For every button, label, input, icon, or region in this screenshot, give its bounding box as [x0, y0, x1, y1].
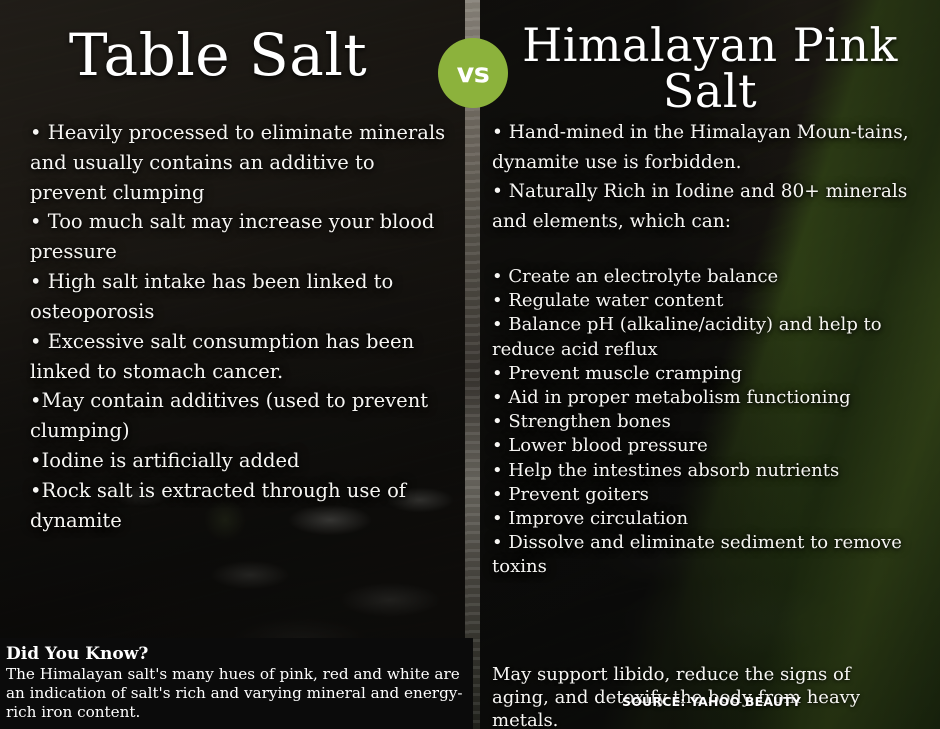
page-title-himalayan-pink-salt: Himalayan Pink Salt — [480, 22, 940, 114]
list-item: • Heavily processed to eliminate mineral… — [30, 118, 450, 207]
list-item: •May contain additives (used to prevent … — [30, 386, 450, 446]
list-item: • Improve circulation — [492, 507, 940, 531]
list-item: • Prevent muscle cramping — [492, 362, 940, 386]
source-attribution: SOURCE: YAHOO BEAUTY — [622, 694, 801, 709]
content-layer: Table Salt • Heavily processed to elimin… — [0, 0, 940, 729]
list-item: • High salt intake has been linked to os… — [30, 267, 450, 327]
column-table-salt: Table Salt • Heavily processed to elimin… — [0, 0, 466, 729]
list-item: •Iodine is artificially added — [30, 446, 450, 476]
list-item: • Strengthen bones — [492, 410, 940, 434]
list-item: • Create an electrolyte balance — [492, 265, 940, 289]
list-item: • Regulate water content — [492, 289, 940, 313]
versus-badge: vs — [438, 38, 508, 108]
page-title-table-salt: Table Salt — [0, 26, 466, 84]
list-item: • Aid in proper metabolism functioning — [492, 386, 940, 410]
list-item: • Excessive salt consumption has been li… — [30, 327, 450, 387]
pink-salt-intro-bullet-list: • Hand-mined in the Himalayan Moun-tains… — [492, 118, 940, 236]
list-item: • Prevent goiters — [492, 483, 940, 507]
versus-badge-label: vs — [457, 58, 490, 89]
did-you-know-body: The Himalayan salt's many hues of pink, … — [6, 665, 467, 721]
pink-salt-benefits-bullet-list: • Create an electrolyte balance • Regula… — [492, 265, 940, 580]
table-salt-bullet-list: • Heavily processed to eliminate mineral… — [30, 118, 450, 536]
list-item: • Lower blood pressure — [492, 434, 940, 458]
did-you-know-heading: Did You Know? — [6, 644, 467, 664]
list-item: • Help the intestines absorb nutrients — [492, 459, 940, 483]
did-you-know-panel: Did You Know? The Himalayan salt's many … — [0, 638, 473, 729]
list-item: • Balance pH (alkaline/acidity) and help… — [492, 313, 940, 361]
list-item: • Naturally Rich in Iodine and 80+ miner… — [492, 177, 940, 236]
list-item: • Too much salt may increase your blood … — [30, 207, 450, 267]
list-item: •Rock salt is extracted through use of d… — [30, 476, 450, 536]
infographic-root: Table Salt • Heavily processed to elimin… — [0, 0, 940, 729]
column-himalayan-pink-salt: Himalayan Pink Salt • Hand-mined in the … — [480, 0, 940, 729]
list-item: • Hand-mined in the Himalayan Moun-tains… — [492, 118, 940, 177]
list-item: • Dissolve and eliminate sediment to rem… — [492, 531, 940, 579]
